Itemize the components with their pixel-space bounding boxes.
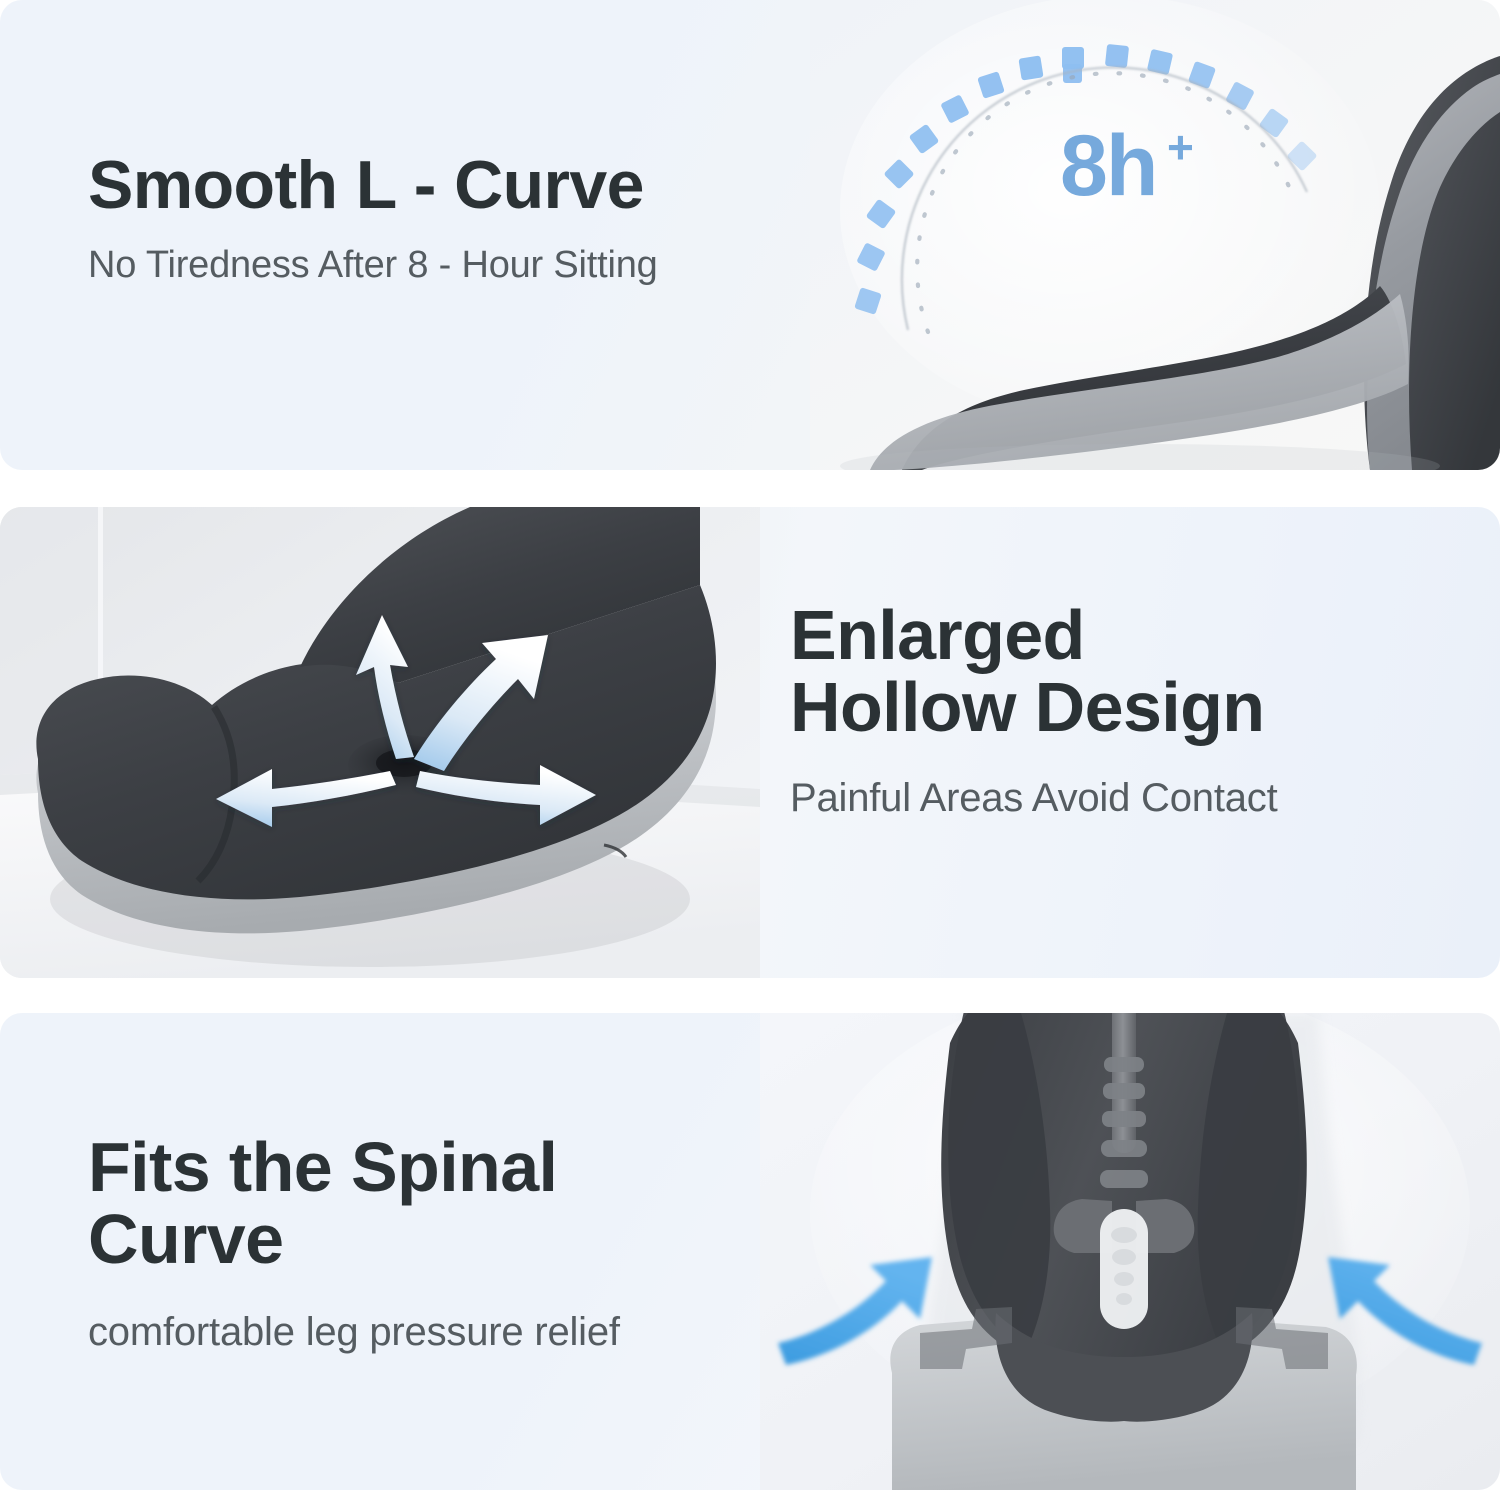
cushion-hollow-airflow-arrows-photo (0, 507, 760, 978)
page-title-fits-the-spinal-curve: Fits the Spinal Curve (88, 1131, 788, 1275)
panel-fits-the-spinal-curve: Fits the Spinal Curve comfortable leg pr… (0, 1013, 1500, 1490)
panel-enlarged-hollow-design: Enlarged Hollow Design Painful Areas Avo… (0, 507, 1500, 978)
seat-cushion-side-profile-photo: 8h + (810, 0, 1500, 470)
page-title-enlarged-hollow-design: Enlarged Hollow Design (790, 599, 1450, 743)
svg-text:+: + (1167, 121, 1194, 173)
title-line-2: Hollow Design (790, 671, 1450, 743)
product-infographic: 8h + Smooth L - Curve No Tiredness After… (0, 0, 1500, 1490)
title-line-1: Enlarged (790, 599, 1450, 671)
panel-2-copy-block: Enlarged Hollow Design Painful Areas Avo… (790, 599, 1450, 821)
title-line-1: Fits the Spinal (88, 1131, 788, 1203)
page-title-smooth-l-curve: Smooth L - Curve (88, 150, 848, 220)
panel-1-copy-block: Smooth L - Curve No Tiredness After 8 - … (88, 150, 848, 288)
panel-3-subtitle: comfortable leg pressure relief (88, 1309, 788, 1355)
panel-smooth-l-curve: 8h + Smooth L - Curve No Tiredness After… (0, 0, 1500, 470)
panel-1-subtitle: No Tiredness After 8 - Hour Sitting (88, 244, 848, 288)
svg-text:8h: 8h (1060, 118, 1156, 214)
title-line-2: Curve (88, 1203, 788, 1275)
panel-2-subtitle: Painful Areas Avoid Contact (790, 775, 1450, 821)
panel-3-copy-block: Fits the Spinal Curve comfortable leg pr… (88, 1131, 788, 1355)
spine-pelvis-xray-illustration (760, 1013, 1500, 1490)
